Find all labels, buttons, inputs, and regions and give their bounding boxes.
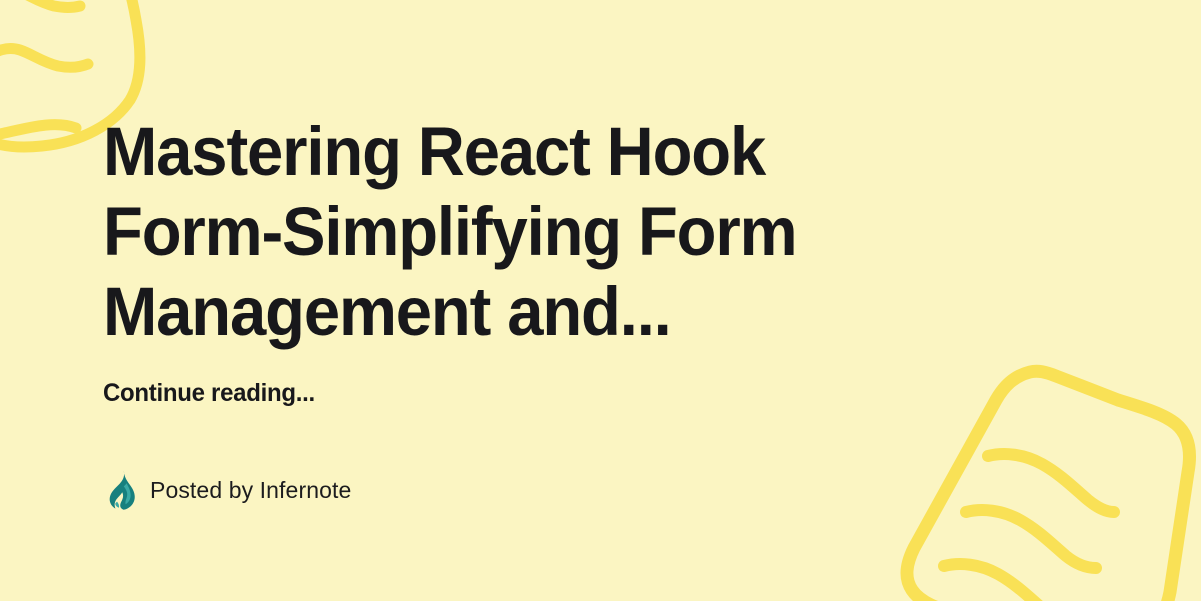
flame-icon bbox=[108, 470, 136, 510]
author-byline-row: Posted by Infernote bbox=[108, 470, 351, 510]
continue-reading-link[interactable]: Continue reading... bbox=[103, 379, 315, 408]
author-name-label: Posted by Infernote bbox=[150, 477, 351, 504]
social-share-card: Mastering React Hook Form-Simplifying Fo… bbox=[0, 0, 1201, 601]
card-content: Mastering React Hook Form-Simplifying Fo… bbox=[103, 0, 1103, 601]
page-title: Mastering React Hook Form-Simplifying Fo… bbox=[103, 112, 859, 352]
